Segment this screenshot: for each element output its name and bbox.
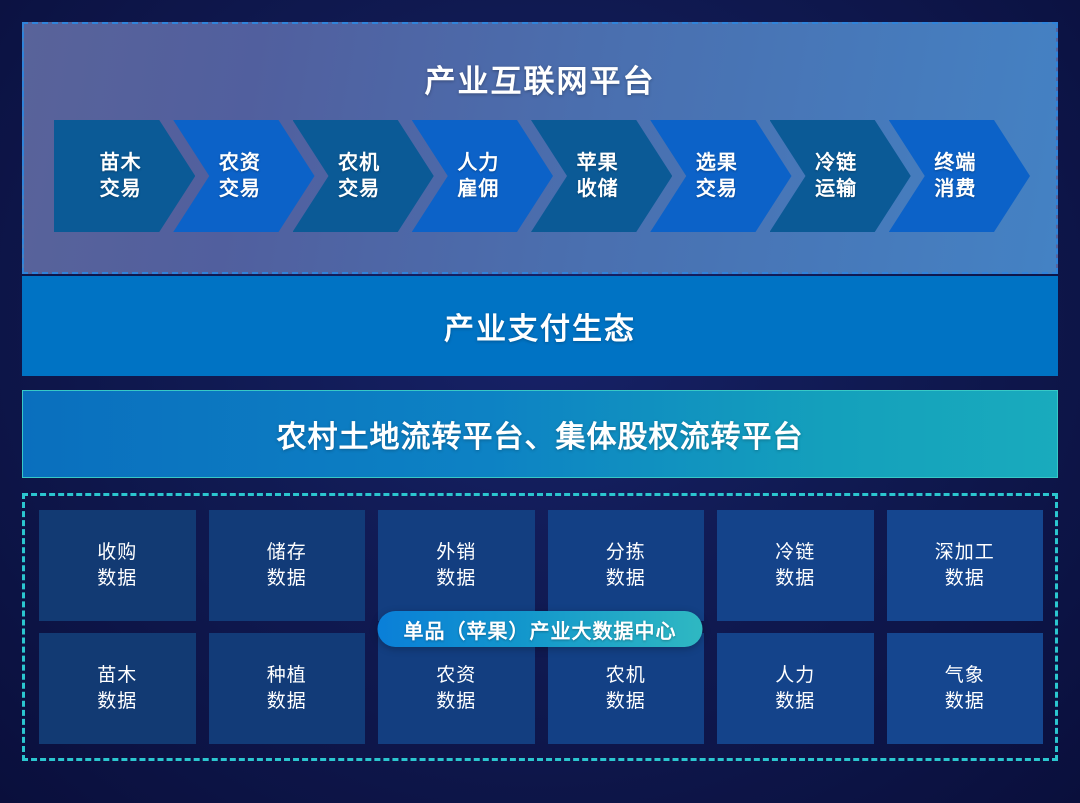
data-cell-storage[interactable]: 储存 数据 [209, 510, 366, 621]
data-cell-machinery-label: 农机 数据 [606, 663, 646, 714]
data-cell-cold-chain[interactable]: 冷链 数据 [717, 510, 874, 621]
data-cell-purchase-label: 收购 数据 [97, 540, 137, 591]
chevron-step-5-label: 苹果 收储 [577, 150, 619, 203]
data-cell-planting-label: 种植 数据 [267, 663, 307, 714]
diagram-canvas: 产业互联网平台 苗木 交易 农资 交易 农机 交易 人力 雇佣 苹果 收储 选果… [0, 0, 1080, 803]
data-cell-sorting[interactable]: 分拣 数据 [548, 510, 705, 621]
data-cell-sorting-label: 分拣 数据 [606, 540, 646, 591]
data-cell-machinery[interactable]: 农机 数据 [548, 633, 705, 744]
data-cell-purchase[interactable]: 收购 数据 [39, 510, 196, 621]
platform-title: 产业互联网平台 [24, 56, 1056, 101]
land-transfer-band: 农村土地流转平台、集体股权流转平台 [22, 390, 1058, 478]
data-cell-labor-label: 人力 数据 [775, 663, 815, 714]
data-cell-cold-chain-label: 冷链 数据 [775, 540, 815, 591]
data-cell-export[interactable]: 外销 数据 [378, 510, 535, 621]
big-data-center-pill-label: 单品（苹果）产业大数据中心 [404, 615, 677, 644]
data-cell-export-label: 外销 数据 [436, 540, 476, 591]
value-chain-chevron-row: 苗木 交易 农资 交易 农机 交易 人力 雇佣 苹果 收储 选果 交易 冷链 运… [54, 120, 1030, 232]
data-cell-agri-input-label: 农资 数据 [436, 663, 476, 714]
data-cell-weather-label: 气象 数据 [945, 663, 985, 714]
chevron-step-1[interactable]: 苗木 交易 [54, 120, 195, 232]
data-cell-planting[interactable]: 种植 数据 [209, 633, 366, 744]
chevron-step-1-label: 苗木 交易 [100, 150, 142, 203]
chevron-step-8-label: 终端 消费 [934, 150, 976, 203]
payment-ecosystem-band: 产业支付生态 [22, 276, 1058, 376]
payment-ecosystem-label: 产业支付生态 [444, 304, 636, 348]
data-cell-seedling-label: 苗木 数据 [97, 663, 137, 714]
industrial-internet-platform-panel: 产业互联网平台 苗木 交易 农资 交易 农机 交易 人力 雇佣 苹果 收储 选果… [22, 22, 1058, 274]
data-cell-processing[interactable]: 深加工 数据 [887, 510, 1044, 621]
data-cell-labor[interactable]: 人力 数据 [717, 633, 874, 744]
data-cell-seedling[interactable]: 苗木 数据 [39, 633, 196, 744]
chevron-step-2-label: 农资 交易 [219, 150, 261, 203]
data-cell-processing-label: 深加工 数据 [935, 540, 995, 591]
land-transfer-label: 农村土地流转平台、集体股权流转平台 [277, 412, 804, 456]
data-cell-storage-label: 储存 数据 [267, 540, 307, 591]
big-data-center-pill: 单品（苹果）产业大数据中心 [378, 611, 703, 647]
chevron-step-7-label: 冷链 运输 [815, 150, 857, 203]
chevron-step-6-label: 选果 交易 [696, 150, 738, 203]
chevron-step-3-label: 农机 交易 [338, 150, 380, 203]
data-cell-agri-input[interactable]: 农资 数据 [378, 633, 535, 744]
data-cell-weather[interactable]: 气象 数据 [887, 633, 1044, 744]
chevron-step-4-label: 人力 雇佣 [457, 150, 499, 203]
